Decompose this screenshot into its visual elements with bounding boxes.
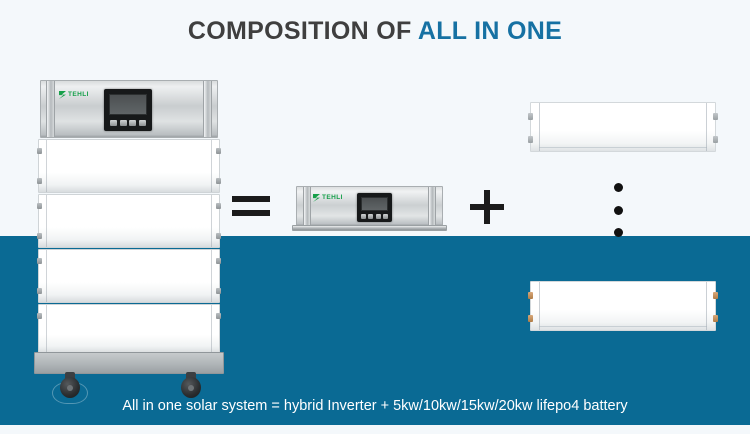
equals-bar-bottom bbox=[232, 210, 270, 216]
battery-seam-right bbox=[706, 103, 707, 151]
battery-connector-tab bbox=[713, 113, 718, 120]
module-connector-tab bbox=[216, 288, 221, 294]
inverter-side-rail-left bbox=[303, 187, 311, 227]
battery-connector-tab bbox=[713, 315, 718, 322]
battery-bottom-edge bbox=[539, 147, 707, 148]
ellipsis-dot bbox=[614, 228, 623, 237]
inverter-brand-logo: TEHLI bbox=[313, 194, 343, 202]
battery-module-top bbox=[530, 102, 716, 152]
head-side-rail-right bbox=[203, 81, 212, 137]
brand-logo-mark-icon bbox=[59, 91, 66, 99]
page-title: COMPOSITION OF ALL IN ONE bbox=[0, 17, 750, 46]
module-connector-tab bbox=[216, 203, 221, 209]
inverter-brand-logo-text: TEHLI bbox=[322, 194, 343, 202]
battery-seam-left bbox=[539, 282, 540, 330]
inverter-lcd-button bbox=[368, 214, 373, 219]
infographic-canvas: COMPOSITION OF ALL IN ONE TEHLI bbox=[0, 0, 750, 434]
caption-text: All in one solar system = hybrid Inverte… bbox=[0, 398, 750, 414]
module-connector-tab bbox=[37, 203, 42, 209]
battery-connector-tab bbox=[713, 136, 718, 143]
battery-connector-tab bbox=[528, 315, 533, 322]
unit-base-plinth bbox=[34, 352, 224, 374]
module-connector-tab bbox=[37, 288, 42, 294]
plus-sign-icon bbox=[470, 190, 504, 224]
battery-connector-tab bbox=[713, 292, 718, 299]
module-connector-tab bbox=[37, 148, 42, 154]
inverter-lcd-button bbox=[376, 214, 381, 219]
module-connector-tab bbox=[216, 178, 221, 184]
brand-logo-mark-icon bbox=[313, 194, 320, 202]
inverter-side-rail-right bbox=[428, 187, 436, 227]
caster-wheel-right bbox=[181, 372, 201, 398]
all-in-one-inverter-head: TEHLI bbox=[40, 80, 218, 138]
lcd-button bbox=[129, 120, 136, 126]
vertical-ellipsis-icon bbox=[613, 183, 623, 237]
module-connector-tab bbox=[37, 233, 42, 239]
battery-connector-tab bbox=[528, 292, 533, 299]
stack-battery-module bbox=[38, 249, 220, 303]
module-connector-tab bbox=[37, 258, 42, 264]
caster-hub bbox=[188, 385, 194, 391]
inverter-lcd-button bbox=[383, 214, 388, 219]
stack-battery-module bbox=[38, 139, 220, 193]
ellipsis-dot bbox=[614, 206, 623, 215]
lcd-screen bbox=[109, 94, 147, 115]
battery-connector-tab bbox=[528, 136, 533, 143]
inverter-body: TEHLI bbox=[296, 186, 443, 226]
stack-battery-module bbox=[38, 194, 220, 248]
module-connector-tab bbox=[37, 313, 42, 319]
lcd-button bbox=[139, 120, 146, 126]
brand-logo: TEHLI bbox=[59, 91, 89, 99]
inverter-lcd-display-panel bbox=[357, 193, 392, 222]
hybrid-inverter-unit: TEHLI bbox=[292, 186, 447, 230]
bottom-light-strip bbox=[0, 425, 750, 434]
inverter-bottom-rail bbox=[292, 225, 447, 231]
battery-bottom-edge bbox=[539, 326, 707, 327]
equals-sign-icon bbox=[232, 196, 270, 218]
battery-seam-left bbox=[539, 103, 540, 151]
module-connector-tab bbox=[216, 148, 221, 154]
module-connector-tab bbox=[37, 178, 42, 184]
battery-connector-tab bbox=[528, 113, 533, 120]
caster-hub bbox=[67, 385, 73, 391]
title-accent-text: ALL IN ONE bbox=[418, 17, 562, 45]
lcd-display-panel bbox=[104, 89, 152, 131]
ellipsis-dot bbox=[614, 183, 623, 192]
inverter-lcd-button-row bbox=[361, 214, 388, 219]
equals-bar-top bbox=[232, 196, 270, 202]
plus-bar-vertical bbox=[484, 190, 490, 224]
title-lead-text: COMPOSITION OF bbox=[188, 17, 418, 45]
caster-wheel-left bbox=[60, 372, 80, 398]
inverter-lcd-button bbox=[361, 214, 366, 219]
lcd-button bbox=[110, 120, 117, 126]
lcd-button bbox=[120, 120, 127, 126]
head-side-rail-left bbox=[46, 81, 55, 137]
all-in-one-unit: TEHLI bbox=[38, 80, 220, 370]
lcd-button-row bbox=[110, 120, 146, 126]
stack-battery-module bbox=[38, 304, 220, 354]
module-connector-tab bbox=[216, 313, 221, 319]
module-connector-tab bbox=[216, 233, 221, 239]
module-connector-tab bbox=[216, 258, 221, 264]
battery-seam-right bbox=[706, 282, 707, 330]
inverter-lcd-screen bbox=[361, 197, 388, 211]
brand-logo-text: TEHLI bbox=[68, 91, 89, 99]
battery-module-bottom bbox=[530, 281, 716, 331]
